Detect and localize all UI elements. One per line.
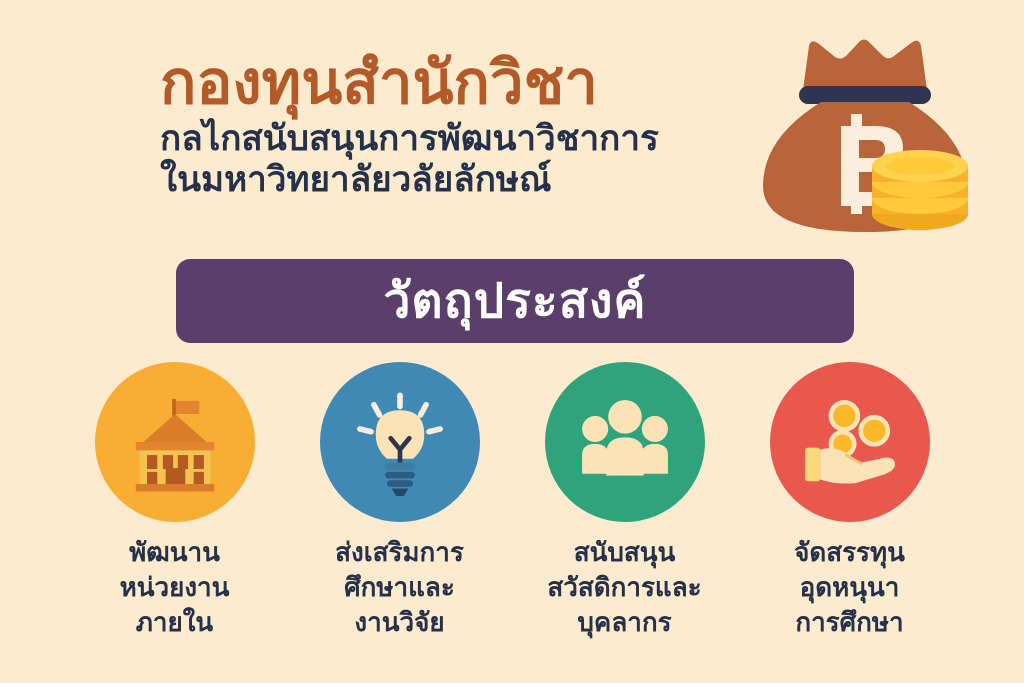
objective-item-4[interactable]: จัดสรรทุน อุดหนุนา การศึกษา	[737, 362, 962, 640]
subtitle-line-2: ในมหาวิทยาลัยวลัยลักษณ์	[160, 160, 740, 201]
caption-line: ศึกษาและ	[335, 571, 464, 606]
hand-with-coins-icon	[794, 386, 906, 498]
poster-header: กองทุนสำนักวิชา กลไกสนับสนุนการพัฒนาวิชา…	[0, 0, 1024, 250]
people-group-icon	[569, 386, 681, 498]
subtitle-line-1: กลไกสนับสนุนการพัฒนาวิชาการ	[160, 119, 740, 160]
caption-line: งานวิจัย	[335, 606, 464, 641]
objective-caption-3: สนับสนุน สวัสดิการและ บุคลากร	[547, 536, 701, 640]
page-title: กองทุนสำนักวิชา	[160, 52, 740, 115]
objective-icon-circle-4	[770, 362, 930, 522]
objective-item-3[interactable]: สนับสนุน สวัสดิการและ บุคลากร	[512, 362, 737, 640]
objective-caption-4: จัดสรรทุน อุดหนุนา การศึกษา	[794, 536, 905, 640]
caption-line: สวัสดิการและ	[547, 571, 701, 606]
caption-line: ส่งเสริมการ	[335, 536, 464, 571]
objective-item-2[interactable]: ส่งเสริมการ ศึกษาและ งานวิจัย	[287, 362, 512, 640]
caption-line: พัฒนาน	[120, 536, 230, 571]
building-icon	[119, 386, 231, 498]
caption-line: บุคลากร	[547, 606, 701, 641]
objective-item-1[interactable]: พัฒนาน หน่วยงาน ภายใน	[62, 362, 287, 640]
caption-line: สนับสนุน	[547, 536, 701, 571]
caption-line: จัดสรรทุน	[794, 536, 905, 571]
lightbulb-icon	[344, 386, 456, 498]
infographic-poster: กองทุนสำนักวิชา กลไกสนับสนุนการพัฒนาวิชา…	[0, 0, 1024, 683]
caption-line: ภายใน	[120, 606, 230, 641]
caption-line: อุดหนุนา	[794, 571, 905, 606]
objectives-banner-label: วัตถุประสงค์	[383, 277, 646, 325]
caption-line: หน่วยงาน	[120, 571, 230, 606]
objectives-banner: วัตถุประสงค์	[176, 259, 854, 343]
caption-line: การศึกษา	[794, 606, 905, 641]
objective-caption-2: ส่งเสริมการ ศึกษาและ งานวิจัย	[335, 536, 464, 640]
money-bag-icon	[735, 18, 985, 248]
objective-icon-circle-2	[320, 362, 480, 522]
objective-caption-1: พัฒนาน หน่วยงาน ภายใน	[120, 536, 230, 640]
objective-icon-circle-1	[95, 362, 255, 522]
objective-icon-circle-3	[545, 362, 705, 522]
title-block: กองทุนสำนักวิชา กลไกสนับสนุนการพัฒนาวิชา…	[160, 52, 740, 202]
objectives-list: พัฒนาน หน่วยงาน ภายใน	[0, 362, 1024, 672]
